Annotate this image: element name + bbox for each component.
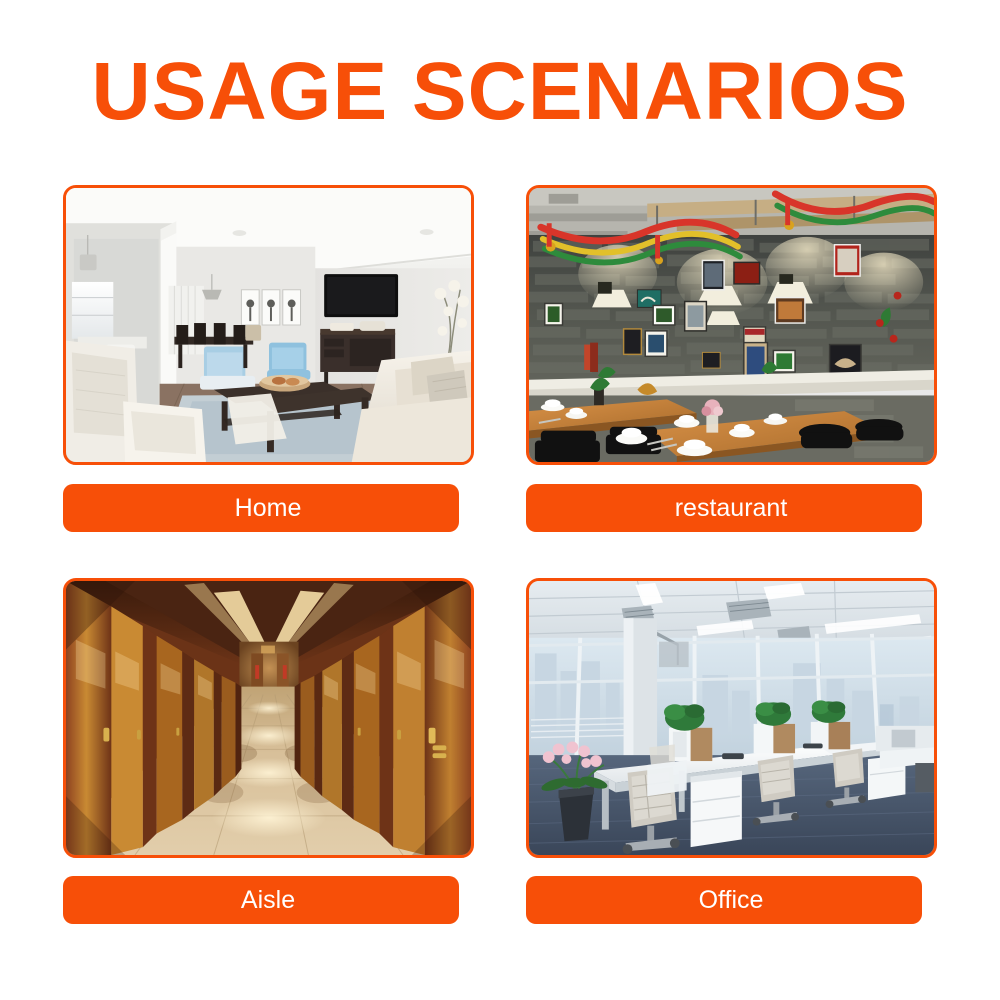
- hotel-corridor-photo: [63, 578, 474, 858]
- living-room-photo: [63, 185, 474, 465]
- scenario-label-restaurant[interactable]: restaurant: [526, 484, 922, 532]
- scenario-grid: Home: [63, 185, 937, 925]
- scenario-label-office[interactable]: Office: [526, 876, 922, 924]
- restaurant-photo: [526, 185, 937, 465]
- usage-scenarios-infographic: USAGE SCENARIOS: [0, 0, 1000, 1000]
- scenario-label-aisle[interactable]: Aisle: [63, 876, 459, 924]
- scenario-label-text: Office: [685, 876, 764, 924]
- scenario-card-home[interactable]: Home: [63, 185, 474, 532]
- scenario-card-office[interactable]: Office: [526, 578, 937, 924]
- scenario-label-text: restaurant: [661, 484, 788, 532]
- scenario-label-home[interactable]: Home: [63, 484, 459, 532]
- open-office-photo: [526, 578, 937, 858]
- scenario-card-restaurant[interactable]: restaurant: [526, 185, 937, 532]
- scenario-label-text: Aisle: [227, 876, 295, 924]
- page-title: USAGE SCENARIOS: [0, 48, 1000, 136]
- scenario-card-aisle[interactable]: Aisle: [63, 578, 474, 924]
- scenario-label-text: Home: [221, 484, 302, 532]
